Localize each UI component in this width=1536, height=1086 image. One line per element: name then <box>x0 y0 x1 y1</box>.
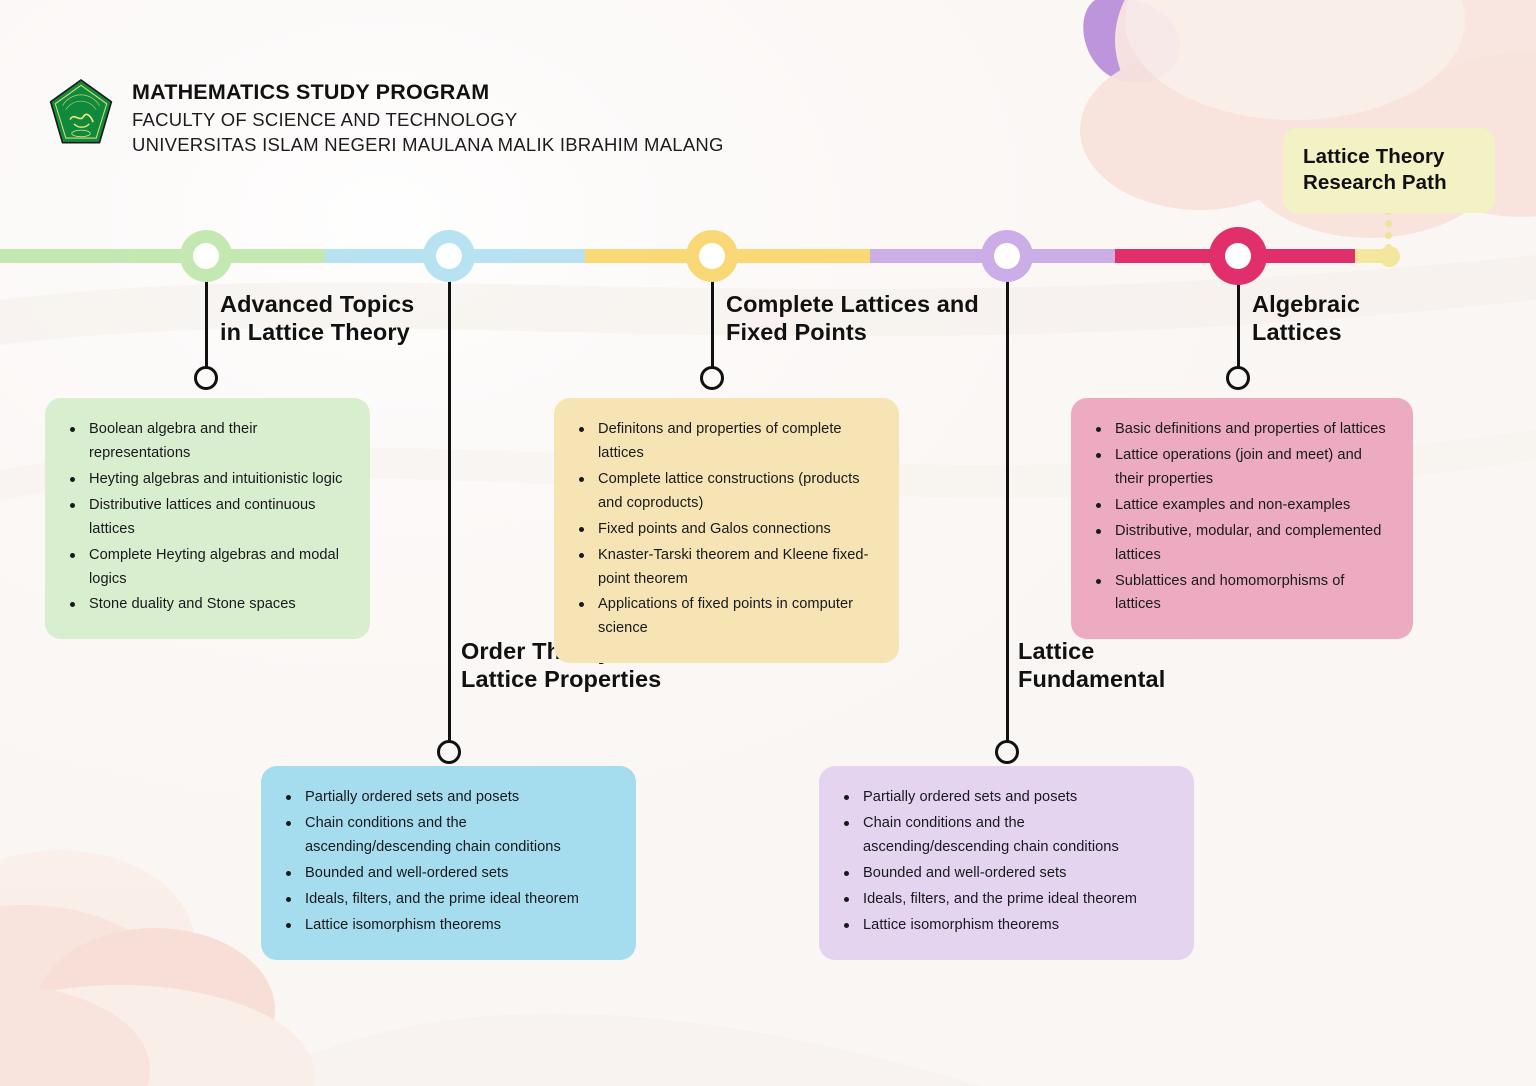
list-item: Chain conditions and the ascending/desce… <box>841 812 1170 860</box>
research-path-callout: Lattice Theory Research Path <box>1283 128 1495 213</box>
list-item: Sublattices and homomorphisms of lattice… <box>1093 570 1389 618</box>
list-item: Complete lattice constructions (products… <box>576 468 875 516</box>
node-lattice-fundamental-center <box>994 243 1020 269</box>
list-item: Bounded and well-ordered sets <box>841 862 1170 886</box>
stem-ring-complete-lattices <box>700 366 724 390</box>
callout-end-dot <box>1379 246 1400 267</box>
card-algebraic-lattices-list: Basic definitions and properties of latt… <box>1093 418 1389 617</box>
list-item: Basic definitions and properties of latt… <box>1093 418 1389 442</box>
stem-ring-advanced-topics <box>194 366 218 390</box>
card-advanced-topics-list: Boolean algebra and their representation… <box>67 418 346 617</box>
node-algebraic-lattices-center <box>1225 243 1251 269</box>
stem-algebraic-lattices <box>1237 281 1240 368</box>
card-lattice-fundamental-list: Partially ordered sets and posetsChain c… <box>841 786 1170 938</box>
list-item: Complete Heyting algebras and modal logi… <box>67 544 346 592</box>
list-item: Lattice examples and non-examples <box>1093 494 1389 518</box>
faculty-name: FACULTY OF SCIENCE AND TECHNOLOGY <box>132 107 724 132</box>
stem-ring-algebraic-lattices <box>1226 366 1250 390</box>
list-item: Boolean algebra and their representation… <box>67 418 346 466</box>
stem-ring-lattice-fundamental <box>995 740 1019 764</box>
node-complete-lattices-center <box>699 243 725 269</box>
list-item: Partially ordered sets and posets <box>841 786 1170 810</box>
list-item: Chain conditions and the ascending/desce… <box>283 812 612 860</box>
list-item: Ideals, filters, and the prime ideal the… <box>283 888 612 912</box>
program-name: MATHEMATICS STUDY PROGRAM <box>132 79 724 107</box>
stem-advanced-topics <box>205 275 208 368</box>
card-order-theory-list: Partially ordered sets and posetsChain c… <box>283 786 612 938</box>
list-item: Fixed points and Galos connections <box>576 518 875 542</box>
stem-complete-lattices <box>711 275 714 368</box>
callout-line-2: Research Path <box>1303 170 1475 196</box>
institution-identity: MATHEMATICS STUDY PROGRAM FACULTY OF SCI… <box>48 76 724 157</box>
list-item: Heyting algebras and intuitionistic logi… <box>67 468 346 492</box>
list-item: Knaster-Tarski theorem and Kleene fixed-… <box>576 544 875 592</box>
card-complete-lattices: Definitons and properties of complete la… <box>554 398 899 663</box>
list-item: Lattice isomorphism theorems <box>841 914 1170 938</box>
list-item: Distributive lattices and continuous lat… <box>67 494 346 542</box>
list-item: Distributive, modular, and complemented … <box>1093 520 1389 568</box>
node-lattice-fundamental[interactable] <box>981 230 1033 282</box>
stem-lattice-fundamental <box>1006 275 1009 742</box>
list-item: Ideals, filters, and the prime ideal the… <box>841 888 1170 912</box>
node-order-theory[interactable] <box>423 230 475 282</box>
uin-maliki-malang-logo <box>48 78 114 148</box>
list-item: Lattice operations (join and meet) and t… <box>1093 444 1389 492</box>
phase-title-complete-lattices: Complete Lattices and Fixed Points <box>726 291 979 346</box>
node-advanced-topics[interactable] <box>180 230 232 282</box>
list-item: Bounded and well-ordered sets <box>283 862 612 886</box>
purple-blob-decor <box>1083 0 1179 83</box>
card-lattice-fundamental: Partially ordered sets and posetsChain c… <box>819 766 1194 960</box>
phase-title-advanced-topics: Advanced Topics in Lattice Theory <box>220 291 414 346</box>
card-advanced-topics: Boolean algebra and their representation… <box>45 398 370 639</box>
callout-line-1: Lattice Theory <box>1303 144 1475 170</box>
segment-green <box>0 249 325 263</box>
stem-ring-order-theory <box>437 740 461 764</box>
node-order-theory-center <box>436 243 462 269</box>
phase-title-lattice-fundamental: Lattice Fundamental <box>1018 638 1165 693</box>
card-algebraic-lattices: Basic definitions and properties of latt… <box>1071 398 1413 639</box>
list-item: Applications of fixed points in computer… <box>576 593 875 641</box>
list-item: Definitons and properties of complete la… <box>576 418 875 466</box>
university-name: UNIVERSITAS ISLAM NEGERI MAULANA MALIK I… <box>132 132 724 157</box>
node-complete-lattices[interactable] <box>686 230 738 282</box>
list-item: Lattice isomorphism theorems <box>283 914 612 938</box>
phase-title-algebraic-lattices: Algebraic Lattices <box>1252 291 1360 346</box>
node-advanced-topics-center <box>193 243 219 269</box>
list-item: Partially ordered sets and posets <box>283 786 612 810</box>
card-order-theory: Partially ordered sets and posetsChain c… <box>261 766 636 960</box>
stem-order-theory <box>448 275 451 742</box>
list-item: Stone duality and Stone spaces <box>67 593 346 617</box>
node-algebraic-lattices[interactable] <box>1209 227 1267 285</box>
card-complete-lattices-list: Definitons and properties of complete la… <box>576 418 875 641</box>
